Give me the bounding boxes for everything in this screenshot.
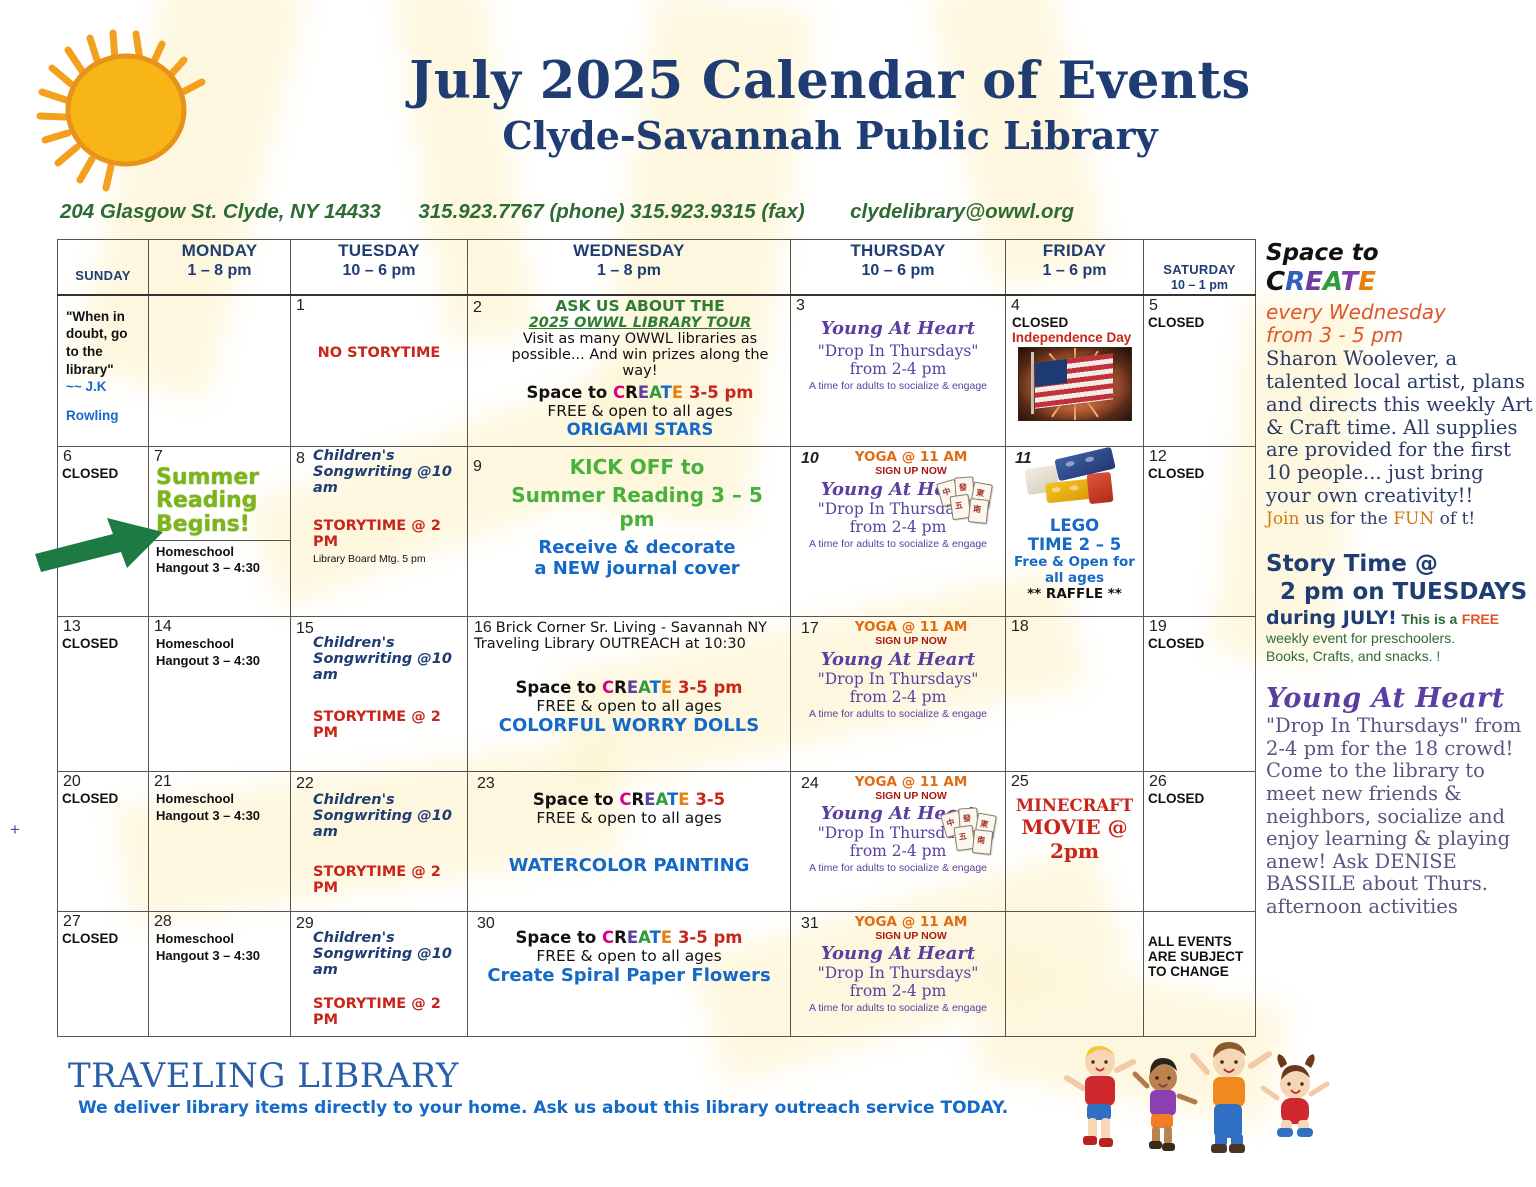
day-cell-18[interactable]: 18 [1006, 617, 1144, 772]
day-cell-10[interactable]: 10 YOGA @ 11 AM SIGN UP NOW 中發東五南 Young … [791, 447, 1006, 617]
yoga-label: YOGA @ 11 AM [817, 774, 1005, 790]
no-storytime-note: NO STORYTIME [318, 345, 441, 361]
day-cell-22[interactable]: 22 Children's Songwriting @10 am STORYTI… [291, 772, 468, 912]
all-events-subject-to-change-notice: ALL EVENTS ARE SUBJECT TO CHANGE [1144, 912, 1256, 1037]
sidebar-story-time-when: 2 pm on TUESDAYS [1266, 579, 1534, 607]
yoga-label: YOGA @ 11 AM [817, 449, 1005, 465]
day-cell-empty-sunday[interactable]: "When in doubt, go to the library" ~~ J.… [58, 295, 149, 447]
registration-mark: + [10, 820, 20, 840]
day-cell-15[interactable]: 15 Children's Songwriting @10 am STORYTI… [291, 617, 468, 772]
mahjong-tiles-icon: 中發東五南 [939, 477, 997, 525]
summer-reading-headline: Summer Reading Begins! [156, 466, 286, 535]
signup-label: SIGN UP NOW [817, 465, 1005, 477]
green-arrow-icon [35, 512, 165, 574]
day-cell-2[interactable]: 2 ASK US ABOUT THE 2025 OWWL LIBRARY TOU… [468, 295, 791, 447]
day-cell-21[interactable]: 21 Homeschool Hangout 3 – 4:30 [149, 772, 291, 912]
day-cell-14[interactable]: 14 Homeschool Hangout 3 – 4:30 [149, 617, 291, 772]
title-line-1: July 2025 Calendar of Events [255, 55, 1405, 109]
day-cell-20[interactable]: 20 CLOSED [58, 772, 149, 912]
address-text: 204 Glasgow St. Clyde, NY 14433 [60, 200, 381, 223]
sun-icon [18, 20, 248, 195]
day-cell-blank-fri[interactable] [1006, 912, 1144, 1037]
phone-text: 315.923.7767 (phone) 315.923.9315 (fax) [418, 200, 804, 223]
space-to-create-label: Space to CREATE 3-5 pm [472, 678, 786, 697]
day-cell-13[interactable]: 13 CLOSED [58, 617, 149, 772]
space-to-create-label: Space to CREATE 3-5 pm [472, 928, 786, 947]
calendar-table: SUNDAY MONDAY 1 – 8 pm TUESDAY 10 – 6 pm… [57, 239, 1256, 1037]
column-header-friday: FRIDAY 1 – 6 pm [1006, 240, 1144, 295]
homeschool-hangout-note: Homeschool Hangout 3 – 4:30 [156, 636, 286, 669]
column-header-thursday: THURSDAY 10 – 6 pm [791, 240, 1006, 295]
day-cell-1[interactable]: 1 NO STORYTIME [291, 295, 468, 447]
day-cell-7[interactable]: 7 Summer Reading Begins! Homeschool Hang… [149, 447, 291, 617]
yoga-label: YOGA @ 11 AM [817, 914, 1005, 930]
traveling-library-title: TRAVELING LIBRARY [68, 1056, 459, 1096]
title-line-2: Clyde-Savannah Public Library [255, 113, 1405, 158]
day-cell-blank-mon[interactable] [149, 295, 291, 447]
sidebar-create-description: Sharon Woolever, a talented local artist… [1266, 348, 1534, 508]
young-at-heart-title: Young At Heart [795, 649, 1001, 670]
day-cell-19[interactable]: 19 CLOSED [1144, 617, 1256, 772]
sidebar-young-at-heart-title: Young At Heart [1266, 683, 1534, 714]
calendar-page: July 2025 Calendar of Events Clyde-Savan… [0, 0, 1536, 1187]
day-cell-12[interactable]: 12 CLOSED [1144, 447, 1256, 617]
sidebar-create-label: CREATE [1266, 268, 1534, 298]
sidebar-schedule: every Wednesday from 3 - 5 pm [1266, 301, 1534, 346]
sidebar-join-line: Join us for the FUN of t! [1266, 509, 1534, 529]
signup-label: SIGN UP NOW [817, 930, 1005, 942]
lego-bricks-photo [1020, 451, 1130, 513]
young-at-heart-title: Young At Heart [795, 318, 1001, 339]
sidebar-story-time-title: Story Time @ [1266, 551, 1534, 579]
day-cell-31[interactable]: 31 YOGA @ 11 AM SIGN UP NOW Young At Hea… [791, 912, 1006, 1037]
email-link[interactable]: clydelibrary@owwl.org [850, 200, 1074, 223]
day-cell-17[interactable]: 17 YOGA @ 11 AM SIGN UP NOW Young At Hea… [791, 617, 1006, 772]
homeschool-hangout-note: Homeschool Hangout 3 – 4:30 [156, 931, 286, 964]
day-cell-8[interactable]: 8 Children's Songwriting @10 am STORYTIM… [291, 447, 468, 617]
column-header-saturday: SATURDAY 10 – 1 pm [1144, 240, 1256, 295]
space-to-create-label: Space to CREATE 3-5 [472, 790, 786, 809]
day-cell-24[interactable]: 24 YOGA @ 11 AM SIGN UP NOW 中發東五南 Young … [791, 772, 1006, 912]
sidebar: Space to CREATE every Wednesday from 3 -… [1266, 240, 1534, 919]
jumping-children-illustration [1055, 1040, 1355, 1175]
fireworks-flag-photo [1018, 347, 1132, 421]
day-cell-16[interactable]: 16 Brick Corner Sr. Living - Savannah NY… [468, 617, 791, 772]
day-cell-23[interactable]: 23 Space to CREATE 3-5 FREE & open to al… [468, 772, 791, 912]
day-cell-27[interactable]: 27 CLOSED [58, 912, 149, 1037]
homeschool-hangout-note: Homeschool Hangout 3 – 4:30 [156, 544, 286, 577]
day-cell-11[interactable]: 11 LEGO TIME 2 – 5 Free & Open for all a… [1006, 447, 1144, 617]
page-title: July 2025 Calendar of Events Clyde-Savan… [255, 55, 1405, 158]
young-at-heart-title: Young At Heart [795, 943, 1001, 964]
day-cell-9[interactable]: 9 KICK OFF to Summer Reading 3 – 5 pm Re… [468, 447, 791, 617]
yoga-label: YOGA @ 11 AM [817, 619, 1005, 635]
column-header-wednesday: WEDNESDAY 1 – 8 pm [468, 240, 791, 295]
sidebar-young-at-heart-body: "Drop In Thursdays" from 2-4 pm for the … [1266, 715, 1534, 918]
day-cell-29[interactable]: 29 Children's Songwriting @10 am STORYTI… [291, 912, 468, 1037]
space-to-create-label: Space to CREATE 3-5 pm [494, 383, 786, 402]
column-header-sunday: SUNDAY [58, 240, 149, 295]
day-cell-3[interactable]: 3 Young At Heart "Drop In Thursdays" fro… [791, 295, 1006, 447]
column-header-monday: MONDAY 1 – 8 pm [149, 240, 291, 295]
sidebar-space-to-label: Space to [1266, 240, 1534, 266]
day-cell-4[interactable]: 4 CLOSED Independence Day [1006, 295, 1144, 447]
traveling-library-subtitle: We deliver library items directly to you… [78, 1098, 1008, 1118]
signup-label: SIGN UP NOW [817, 635, 1005, 647]
day-cell-25[interactable]: 25 MINECRAFT MOVIE @ 2pm [1006, 772, 1144, 912]
contact-line: 204 Glasgow St. Clyde, NY 14433 315.923.… [60, 200, 1380, 224]
column-header-tuesday: TUESDAY 10 – 6 pm [291, 240, 468, 295]
homeschool-hangout-note: Homeschool Hangout 3 – 4:30 [156, 791, 286, 824]
day-cell-26[interactable]: 26 CLOSED [1144, 772, 1256, 912]
library-quote: "When in doubt, go to the library" ~~ J.… [58, 296, 148, 424]
mahjong-tiles-icon: 中發東五南 [943, 808, 1001, 856]
signup-label: SIGN UP NOW [817, 790, 1005, 802]
day-cell-28[interactable]: 28 Homeschool Hangout 3 – 4:30 [149, 912, 291, 1037]
day-cell-5[interactable]: 5 CLOSED [1144, 295, 1256, 447]
day-cell-30[interactable]: 30 Space to CREATE 3-5 pm FREE & open to… [468, 912, 791, 1037]
sidebar-story-time-desc: during JULY! This is a FREE weekly event… [1266, 607, 1534, 665]
